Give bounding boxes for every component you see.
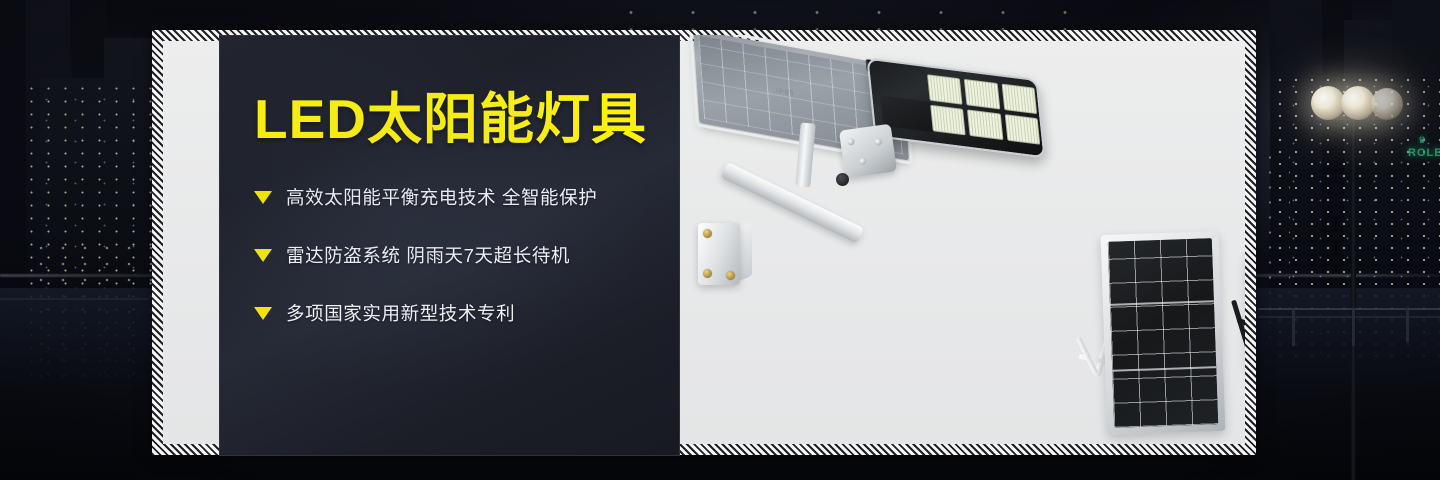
railing-post bbox=[1406, 308, 1409, 342]
mounting-bolt bbox=[726, 271, 735, 280]
street-lamp-globe bbox=[1341, 86, 1375, 120]
triangle-down-icon bbox=[254, 191, 272, 204]
street-lamp-post bbox=[1351, 118, 1356, 480]
triangle-down-icon bbox=[254, 307, 272, 320]
mounting-bolt bbox=[703, 269, 712, 278]
joint-bolt bbox=[847, 138, 855, 146]
headline-panel: LED太阳能灯具 高效太阳能平衡充电技术 全智能保护 雷达防盗系统 阴雨天7天超… bbox=[219, 35, 680, 456]
led-module bbox=[964, 79, 1000, 110]
wall-mount-bracket bbox=[698, 223, 740, 285]
feature-text: 雷达防盗系统 阴雨天7天超长待机 bbox=[286, 242, 570, 268]
railing-post bbox=[1352, 308, 1355, 346]
crown-icon: ♛ bbox=[1418, 135, 1426, 146]
feature-text: 高效太阳能平衡充电技术 全智能保护 bbox=[286, 184, 597, 210]
mounting-bolt bbox=[703, 229, 712, 238]
waterfront-railing bbox=[0, 298, 150, 300]
list-item: 多项国家实用新型技术专利 bbox=[254, 284, 654, 342]
list-item: 雷达防盗系统 阴雨天7天超长待机 bbox=[254, 226, 654, 284]
led-module bbox=[967, 109, 1003, 140]
railing-post bbox=[1292, 308, 1295, 346]
led-module bbox=[930, 105, 966, 136]
rolex-sign: ROLEX bbox=[1408, 147, 1440, 159]
triangle-down-icon bbox=[254, 249, 272, 262]
led-module bbox=[1004, 114, 1040, 145]
led-module bbox=[1001, 84, 1037, 115]
hatched-frame-border: LED太阳能灯具 高效太阳能平衡充电技术 全智能保护 雷达防盗系统 阴雨天7天超… bbox=[152, 30, 1256, 455]
photovoltaic-cells bbox=[1108, 238, 1218, 428]
product-showcase: IP65 bbox=[680, 35, 1245, 450]
promo-banner: ♛ ROLEX LED太阳能灯具 高效太阳能平衡充电技术 全智能保护 雷达防盗系… bbox=[0, 0, 1440, 480]
frame-inner-surface: LED太阳能灯具 高效太阳能平衡充电技术 全智能保护 雷达防盗系统 阴雨天7天超… bbox=[163, 41, 1245, 444]
street-light-pivot-joint bbox=[839, 124, 897, 179]
list-item: 高效太阳能平衡充电技术 全智能保护 bbox=[254, 168, 654, 226]
feature-text: 多项国家实用新型技术专利 bbox=[286, 300, 515, 326]
street-lamp-globe bbox=[1311, 86, 1345, 120]
page-title: LED太阳能灯具 bbox=[254, 74, 647, 154]
flood-light-bracket bbox=[1234, 299, 1245, 356]
led-module bbox=[927, 74, 963, 105]
street-lamp-globe bbox=[1371, 88, 1403, 120]
joint-bolt bbox=[874, 138, 882, 146]
feature-list: 高效太阳能平衡充电技术 全智能保护 雷达防盗系统 阴雨天7天超长待机 多项国家实… bbox=[254, 168, 654, 342]
solar-panel-image bbox=[1101, 231, 1226, 435]
joint-bolt bbox=[859, 157, 867, 165]
waterfront-railing bbox=[1258, 308, 1440, 310]
led-module-grid bbox=[927, 74, 1040, 145]
solar-panel-glass bbox=[1108, 238, 1218, 428]
flood-light-image: Solar light 100W IP67 bbox=[1233, 245, 1245, 378]
waterfront-railing bbox=[1258, 316, 1440, 318]
radar-sensor-icon bbox=[836, 173, 849, 186]
solar-street-light-image: IP65 bbox=[690, 41, 1040, 331]
